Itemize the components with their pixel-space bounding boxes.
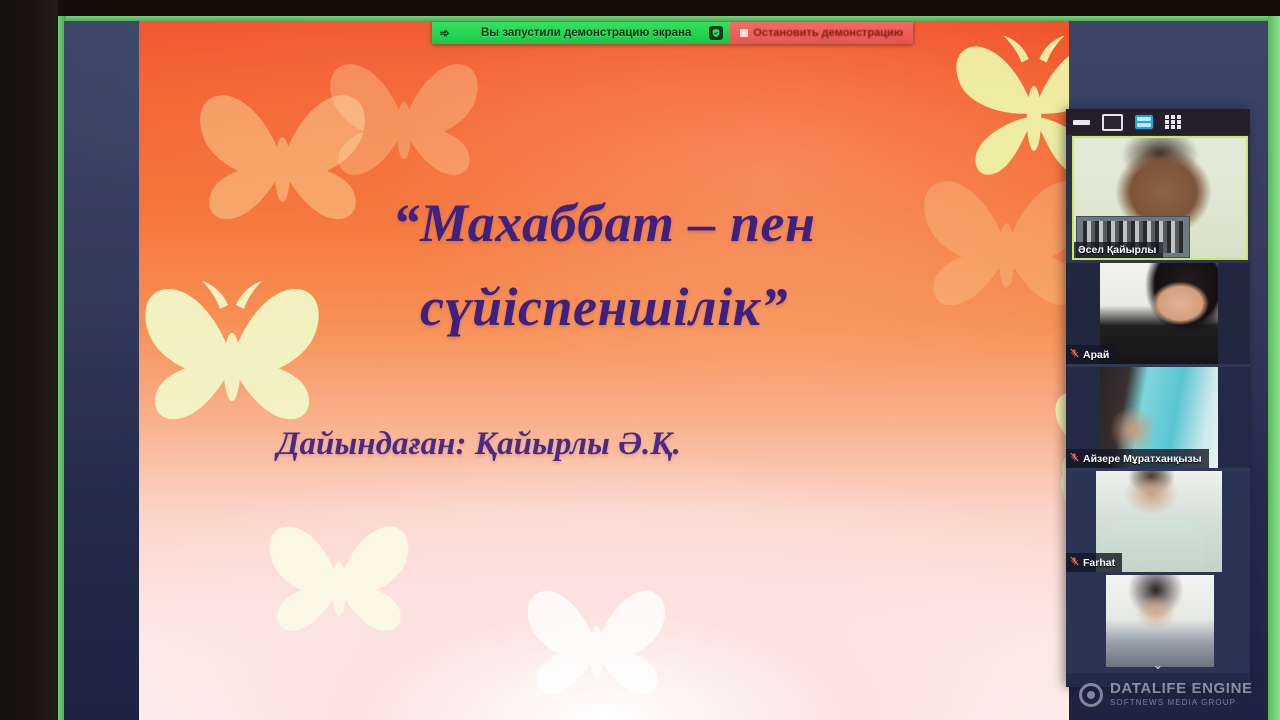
share-status-text: Вы запустили демонстрацию экрана (451, 27, 709, 39)
stop-square-icon (740, 29, 748, 37)
page-title: “Махаббат – пен (139, 181, 1069, 265)
site-watermark: DATALIFE ENGINE SOFTNEWS MEDIA GROUP (1079, 681, 1253, 708)
page-title-line2: сүйіспеншілік” (139, 265, 1069, 349)
slide-subtitle-block: Дайындаған: Қайырлы Ә.Қ. (277, 426, 917, 463)
slide-light-sheen (139, 21, 1069, 720)
participant-tile[interactable]: Farhat (1066, 471, 1250, 572)
participant-tile[interactable]: Әсел Қайырлы (1072, 136, 1248, 260)
datalife-logo-icon (1079, 683, 1103, 707)
participant-name-badge: Farhat (1066, 553, 1122, 572)
photographed-monitor: “Махаббат – пен сүйіспеншілік” Дайындаға… (0, 0, 1280, 720)
participant-name-badge: Әсел Қайырлы (1074, 242, 1163, 258)
participants-video-panel: Әсел Қайырлы Арай Айзере М (1066, 109, 1250, 687)
participant-name-badge: Арай (1066, 345, 1116, 364)
participant-name: Арай (1083, 349, 1109, 361)
grid-view-icon[interactable] (1165, 115, 1181, 129)
participant-name: Айзере Мұратханқызы (1083, 453, 1202, 465)
monitor-frame-top (0, 0, 1280, 16)
watermark-subtitle: SOFTNEWS MEDIA GROUP (1110, 697, 1253, 708)
screen-share-notification-bar[interactable]: ➾ Вы запустили демонстрацию экрана Остан… (432, 22, 913, 44)
watermark-title: DATALIFE ENGINE (1110, 681, 1253, 697)
chevron-down-icon[interactable]: ⌄ (1066, 658, 1250, 671)
slide-author: Дайындаған: Қайырлы Ә.Қ. (277, 426, 917, 463)
participant-name: Әсел Қайырлы (1078, 244, 1156, 256)
participant-tile[interactable]: Айзере Мұратханқызы (1066, 367, 1250, 468)
shield-check-icon[interactable] (709, 26, 723, 40)
monitor-frame-left (0, 0, 58, 720)
video-feed (1106, 575, 1214, 667)
presentation-slide: “Махаббат – пен сүйіспеншілік” Дайындаға… (139, 21, 1069, 720)
microphone-muted-icon (1070, 555, 1079, 570)
participant-name-badge: Айзере Мұратханқызы (1066, 449, 1209, 468)
single-window-icon[interactable] (1102, 114, 1123, 131)
minimize-icon[interactable] (1073, 120, 1090, 125)
monitor-bezel-right (1268, 16, 1280, 720)
video-feed (1100, 263, 1218, 364)
video-layout-toolbar (1066, 109, 1250, 135)
participant-tile[interactable]: Арай (1066, 263, 1250, 364)
microphone-muted-icon (1070, 347, 1079, 362)
share-status-region: ➾ Вы запустили демонстрацию экрана (432, 22, 730, 44)
shared-desktop: “Махаббат – пен сүйіспеншілік” Дайындаға… (64, 21, 1268, 720)
microphone-muted-icon (1070, 451, 1079, 466)
split-view-icon[interactable] (1135, 115, 1153, 129)
stop-sharing-label: Остановить демонстрацию (753, 27, 903, 39)
participant-name: Farhat (1083, 557, 1115, 569)
slide-title-block: “Махаббат – пен сүйіспеншілік” (139, 181, 1069, 349)
stop-sharing-button[interactable]: Остановить демонстрацию (730, 22, 913, 44)
cursor-icon: ➾ (438, 27, 451, 40)
participant-tile[interactable]: ⌄ (1066, 575, 1250, 673)
